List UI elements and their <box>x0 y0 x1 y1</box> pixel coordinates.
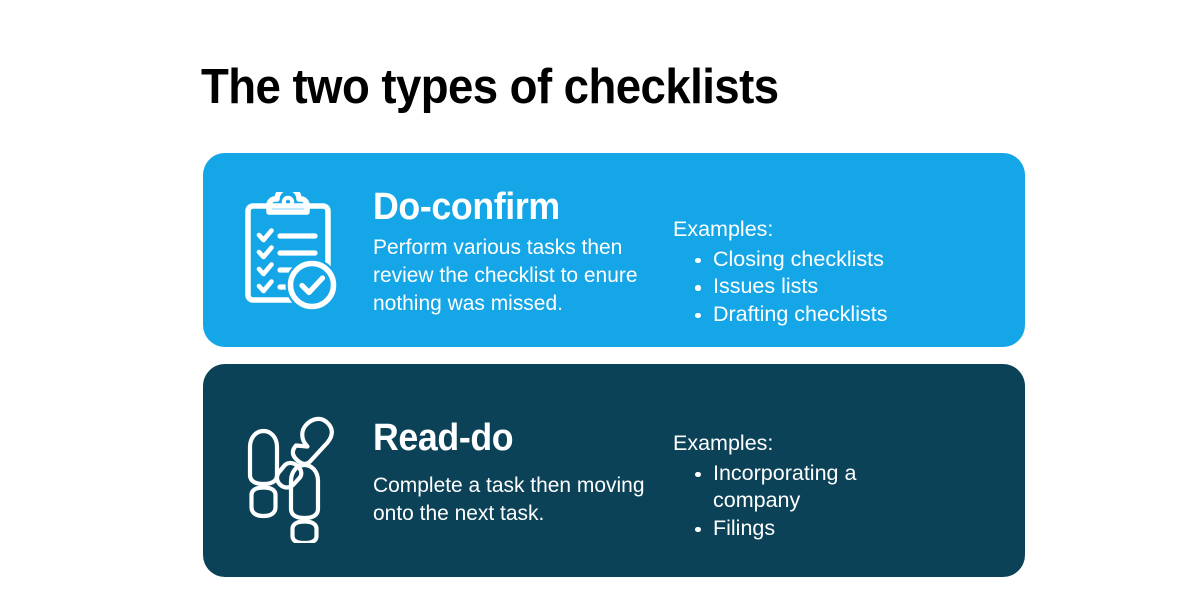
list-item: Closing checklists <box>673 246 1025 274</box>
card-do-confirm-icon-wrap <box>203 190 373 310</box>
card-read-do-examples-list: Incorporating a company Filings <box>673 460 1025 543</box>
page-title: The two types of checklists <box>201 62 779 113</box>
examples-label: Examples: <box>673 217 1025 243</box>
footprints-icon <box>234 403 342 543</box>
card-do-confirm-examples-list: Closing checklists Issues lists Drafting… <box>673 246 1025 329</box>
card-do-confirm: Do-confirm Perform various tasks then re… <box>203 153 1025 347</box>
clipboard-checklist-icon <box>236 192 340 310</box>
card-read-do-body: Read-do Complete a task then moving onto… <box>373 413 673 527</box>
card-do-confirm-examples: Examples: Closing checklists Issues list… <box>673 153 1025 328</box>
card-read-do-description: Complete a task then moving onto the nex… <box>373 472 666 528</box>
card-read-do-icon-wrap <box>203 399 373 543</box>
card-read-do-examples: Examples: Incorporating a company Filing… <box>673 364 1025 542</box>
card-do-confirm-description: Perform various tasks then review the ch… <box>373 234 666 318</box>
card-do-confirm-heading: Do-confirm <box>373 186 655 229</box>
list-item: Incorporating a company <box>673 460 888 515</box>
card-do-confirm-body: Do-confirm Perform various tasks then re… <box>373 182 673 318</box>
examples-label: Examples: <box>673 431 1025 457</box>
list-item: Issues lists <box>673 273 1025 301</box>
card-read-do-heading: Read-do <box>373 417 655 460</box>
list-item: Filings <box>673 515 1025 543</box>
card-read-do: Read-do Complete a task then moving onto… <box>203 364 1025 577</box>
infographic-root: The two types of checklists <box>0 0 1200 600</box>
list-item: Drafting checklists <box>673 301 1025 329</box>
